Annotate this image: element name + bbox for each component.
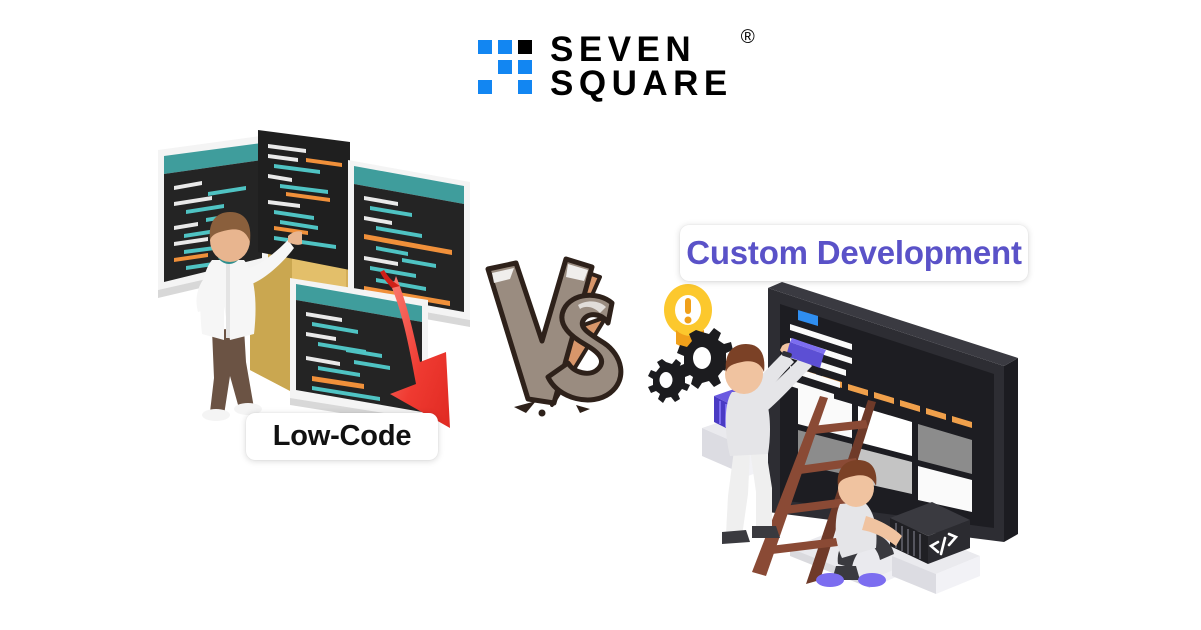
logo-square-r2c2 xyxy=(498,60,512,74)
logo-square-r3c2 xyxy=(498,80,512,94)
label-custom-development: Custom Development xyxy=(680,225,1028,281)
vs-emblem xyxy=(480,255,650,430)
logo-square-r3c1 xyxy=(478,80,492,94)
logo-square-r3c3 xyxy=(518,80,532,94)
logo-mark-icon xyxy=(478,40,532,94)
logo-square-r2c3 xyxy=(518,60,532,74)
logo-square-r2c1 xyxy=(478,60,492,74)
code-window-top-center xyxy=(258,130,350,270)
logo-square-r1c2 xyxy=(498,40,512,54)
label-low-code: Low-Code xyxy=(246,413,438,460)
logo-square-r1c3 xyxy=(518,40,532,54)
low-code-illustration xyxy=(150,130,500,430)
poster-canvas: SEVEN SQUARE ® xyxy=(0,0,1201,630)
logo-square-r1c1 xyxy=(478,40,492,54)
brand-logo: SEVEN SQUARE ® xyxy=(478,33,733,102)
registered-trademark-icon: ® xyxy=(741,29,755,48)
logo-line-seven: SEVEN xyxy=(550,33,733,67)
custom-development-illustration xyxy=(640,280,1040,610)
logo-wordmark: SEVEN SQUARE ® xyxy=(550,33,733,102)
logo-line-square: SQUARE xyxy=(550,67,733,101)
